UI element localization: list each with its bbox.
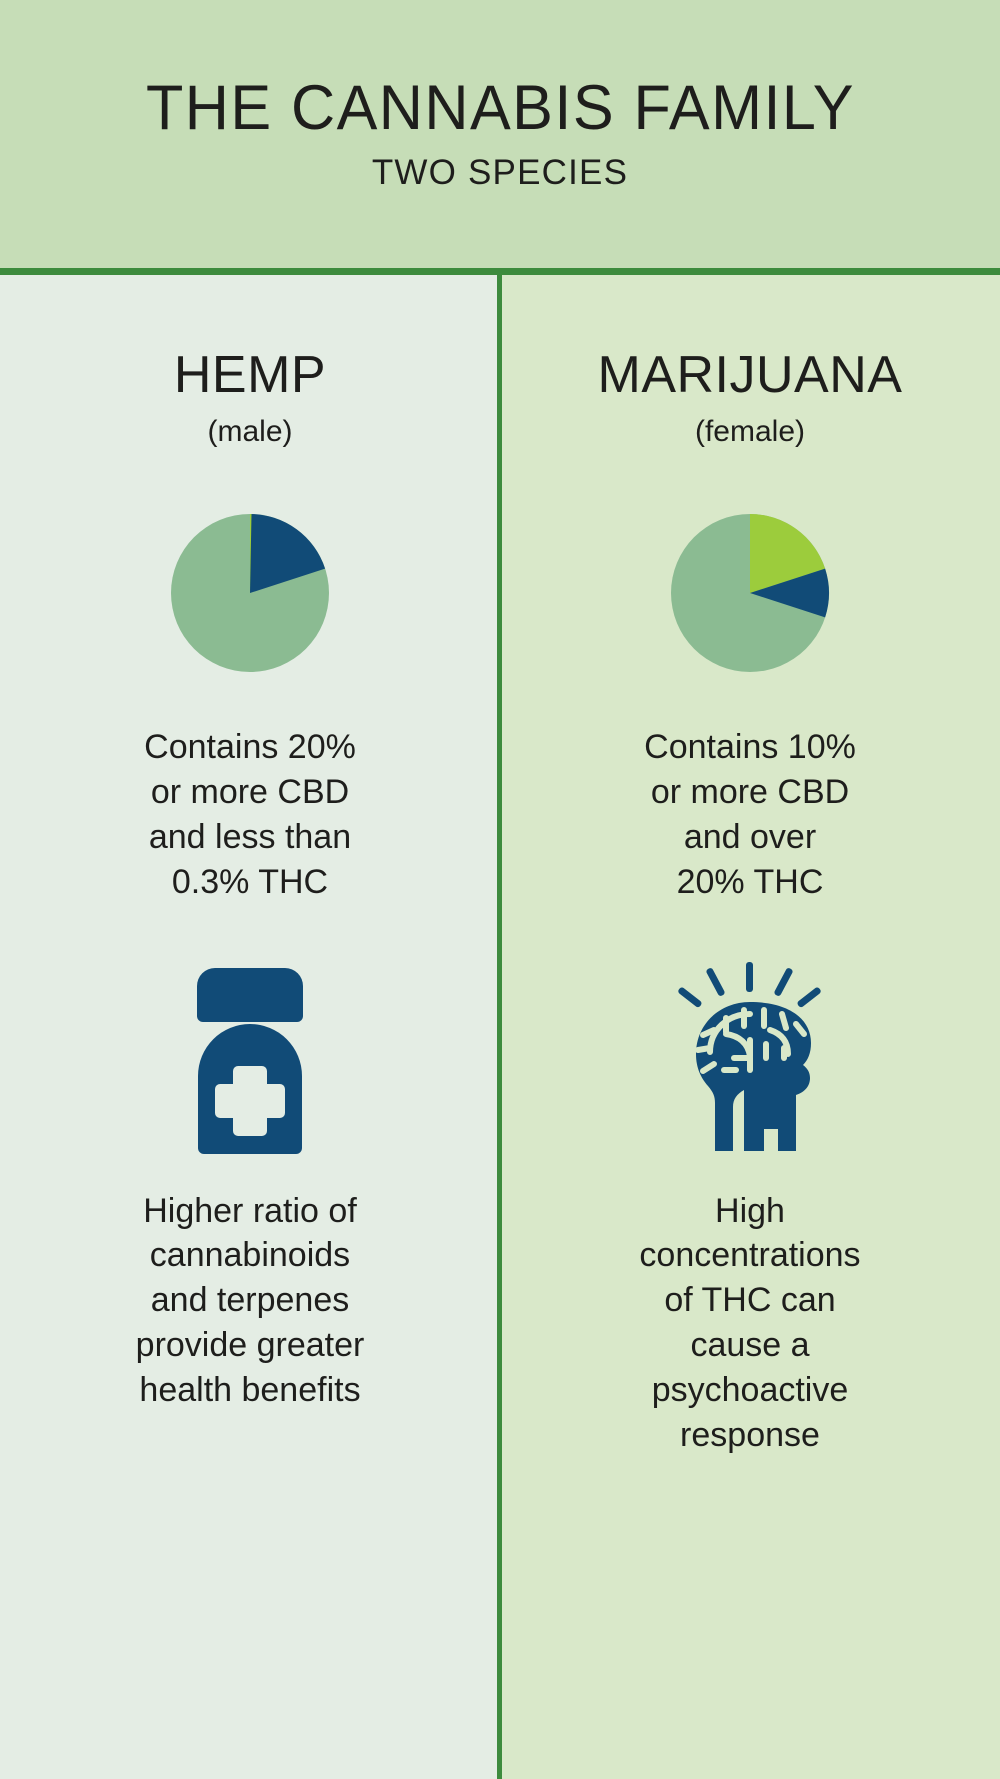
cannabis-family-infographic: THE CANNABIS FAMILY TWO SPECIES [0,0,1000,1779]
column-marijuana: MARIJUANA (female) Contains 10% or more … [500,275,1000,1779]
fact-text-hemp: Contains 20% or more CBD and less than 0… [144,725,356,905]
benefit-text-hemp: Higher ratio of cannabinoids and terpene… [136,1189,365,1413]
column-hemp: HEMP (male) Contains 20% or more CBD and… [0,275,500,1779]
benefit-text-marijuana: High concentrations of THC can cause a p… [639,1189,860,1458]
species-title-marijuana: MARIJUANA [598,349,903,401]
species-title-hemp: HEMP [174,349,326,401]
page-title: THE CANNABIS FAMILY [145,75,854,141]
column-divider [497,275,502,1779]
medicine-bottle-icon [175,963,325,1153]
species-sex-marijuana: (female) [695,417,805,447]
pie-chart-marijuana [670,513,830,673]
header-divider-rule [0,268,1000,275]
species-sex-hemp: (male) [207,417,292,447]
page-subtitle: TWO SPECIES [372,153,628,193]
fact-text-marijuana: Contains 10% or more CBD and over 20% TH… [644,725,856,905]
brain-head-icon [666,963,834,1153]
pie-chart-hemp [170,513,330,673]
header-banner: THE CANNABIS FAMILY TWO SPECIES [0,0,1000,268]
